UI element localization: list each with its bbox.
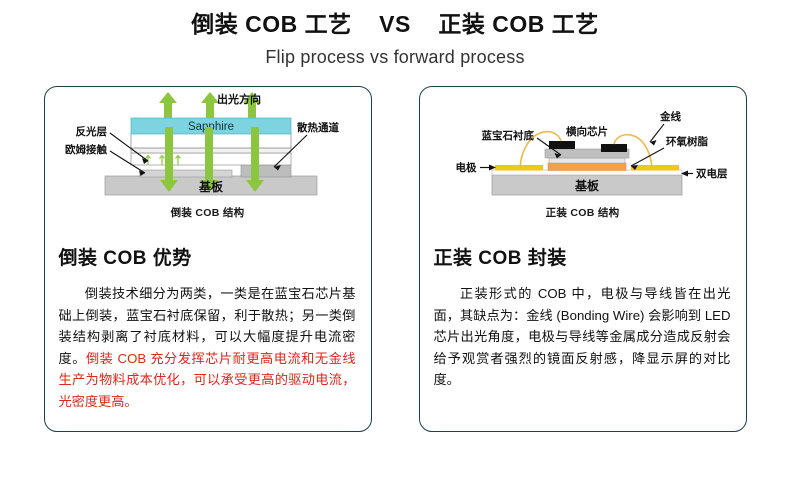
flip-cob-card: Sapphire xyxy=(44,86,372,432)
epoxy-resin-shape xyxy=(548,163,626,171)
substrate-label: 基板 xyxy=(573,178,599,193)
gold-wire-label: 金线 xyxy=(659,110,681,123)
sapphire-substrate-label: 蓝宝石衬底 xyxy=(481,129,534,142)
flip-cob-body-highlight: 倒装 COB 充分发挥芯片耐更高电流和无金线生产为物料成本优化，可以承受更高的驱… xyxy=(59,351,356,409)
double-electric-layer-arrow-left-icon xyxy=(681,171,693,177)
electrode-label: 电极 xyxy=(455,161,476,174)
heat-channel-shape xyxy=(241,164,291,177)
lateral-chip-label: 横向芯片 xyxy=(566,125,608,138)
forward-cob-card: 蓝宝石衬底 横向芯片 金线 环氧树脂 xyxy=(419,86,747,432)
ohmic-contact-label: 欧姆接触 xyxy=(65,143,107,156)
heat-channel-label: 散热通道 xyxy=(297,121,339,134)
double-electric-layer-label: 双电层 xyxy=(695,167,728,180)
substrate-label: 基板 xyxy=(197,179,223,194)
page-subtitle: Flip process vs forward process xyxy=(0,44,790,70)
flip-cob-diagram: Sapphire xyxy=(45,87,371,223)
flip-cob-caption: 倒装 COB 结构 xyxy=(45,205,371,220)
ohmic-contact-shape xyxy=(140,170,232,177)
forward-cob-diagram: 蓝宝石衬底 横向芯片 金线 环氧树脂 xyxy=(420,87,746,223)
page-header: 倒装 COB 工艺 VS 正装 COB 工艺 Flip process vs f… xyxy=(0,0,790,70)
reflective-layer-label: 反光层 xyxy=(75,125,107,138)
epoxy-resin-label: 环氧树脂 xyxy=(666,135,708,148)
gold-wire-leader-line-icon xyxy=(650,124,664,146)
forward-cob-section-title: 正装 COB 封装 xyxy=(434,243,746,270)
flip-cob-body: 倒装技术细分为两类，一类是在蓝宝石芯片基础上倒装，蓝宝石衬底保留，利于散热；另一… xyxy=(59,283,356,412)
forward-cob-body: 正装形式的 COB 中，电极与导线皆在出光面，其缺点为：金线 (Bonding … xyxy=(434,283,731,391)
light-direction-label: 出光方向 xyxy=(217,92,261,106)
forward-cob-caption: 正装 COB 结构 xyxy=(420,205,746,220)
page-title: 倒装 COB 工艺 VS 正装 COB 工艺 xyxy=(0,9,790,39)
electrode-arrow-right-icon xyxy=(480,165,496,171)
comparison-cards-container: Sapphire xyxy=(0,86,790,432)
flip-cob-section-title: 倒装 COB 优势 xyxy=(59,243,371,270)
